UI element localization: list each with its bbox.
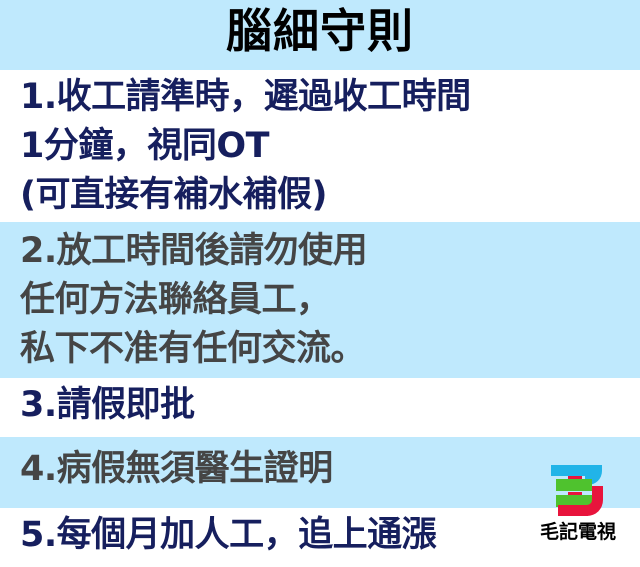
rule-2-line-3: 私下不准有任何交流。 — [20, 325, 632, 374]
rule-2-line-2: 任何方法聯絡員工， — [20, 276, 632, 325]
page-title: 腦細守則 — [0, 2, 640, 60]
mo-tv-logo-mark-icon — [547, 462, 609, 518]
rule-item-1: 1.收工請準時，遲過收工時間 1分鐘，視同OT (可直接有補水補假) — [0, 70, 640, 222]
logo-caption: 毛記電視 — [528, 521, 628, 543]
rule-item-2: 2.放工時間後請勿使用 任何方法聯絡員工， 私下不准有任何交流。 — [0, 222, 640, 378]
rule-1-line-3: (可直接有補水補假) — [20, 171, 632, 220]
logo-red-tail — [558, 505, 588, 516]
rule-2-line-1: 2.放工時間後請勿使用 — [20, 222, 632, 276]
rule-1-line-2: 1分鐘，視同OT — [20, 122, 632, 171]
title-band: 腦細守則 — [0, 0, 640, 70]
brand-logo: 毛記電視 — [528, 462, 628, 558]
rule-3-line-1: 3.請假即批 — [20, 378, 632, 430]
rule-item-3: 3.請假即批 — [0, 378, 640, 437]
rule-1-line-1: 1.收工請準時，遲過收工時間 — [20, 70, 632, 122]
poster-root: 腦細守則 1.收工請準時，遲過收工時間 1分鐘，視同OT (可直接有補水補假) … — [0, 0, 640, 567]
